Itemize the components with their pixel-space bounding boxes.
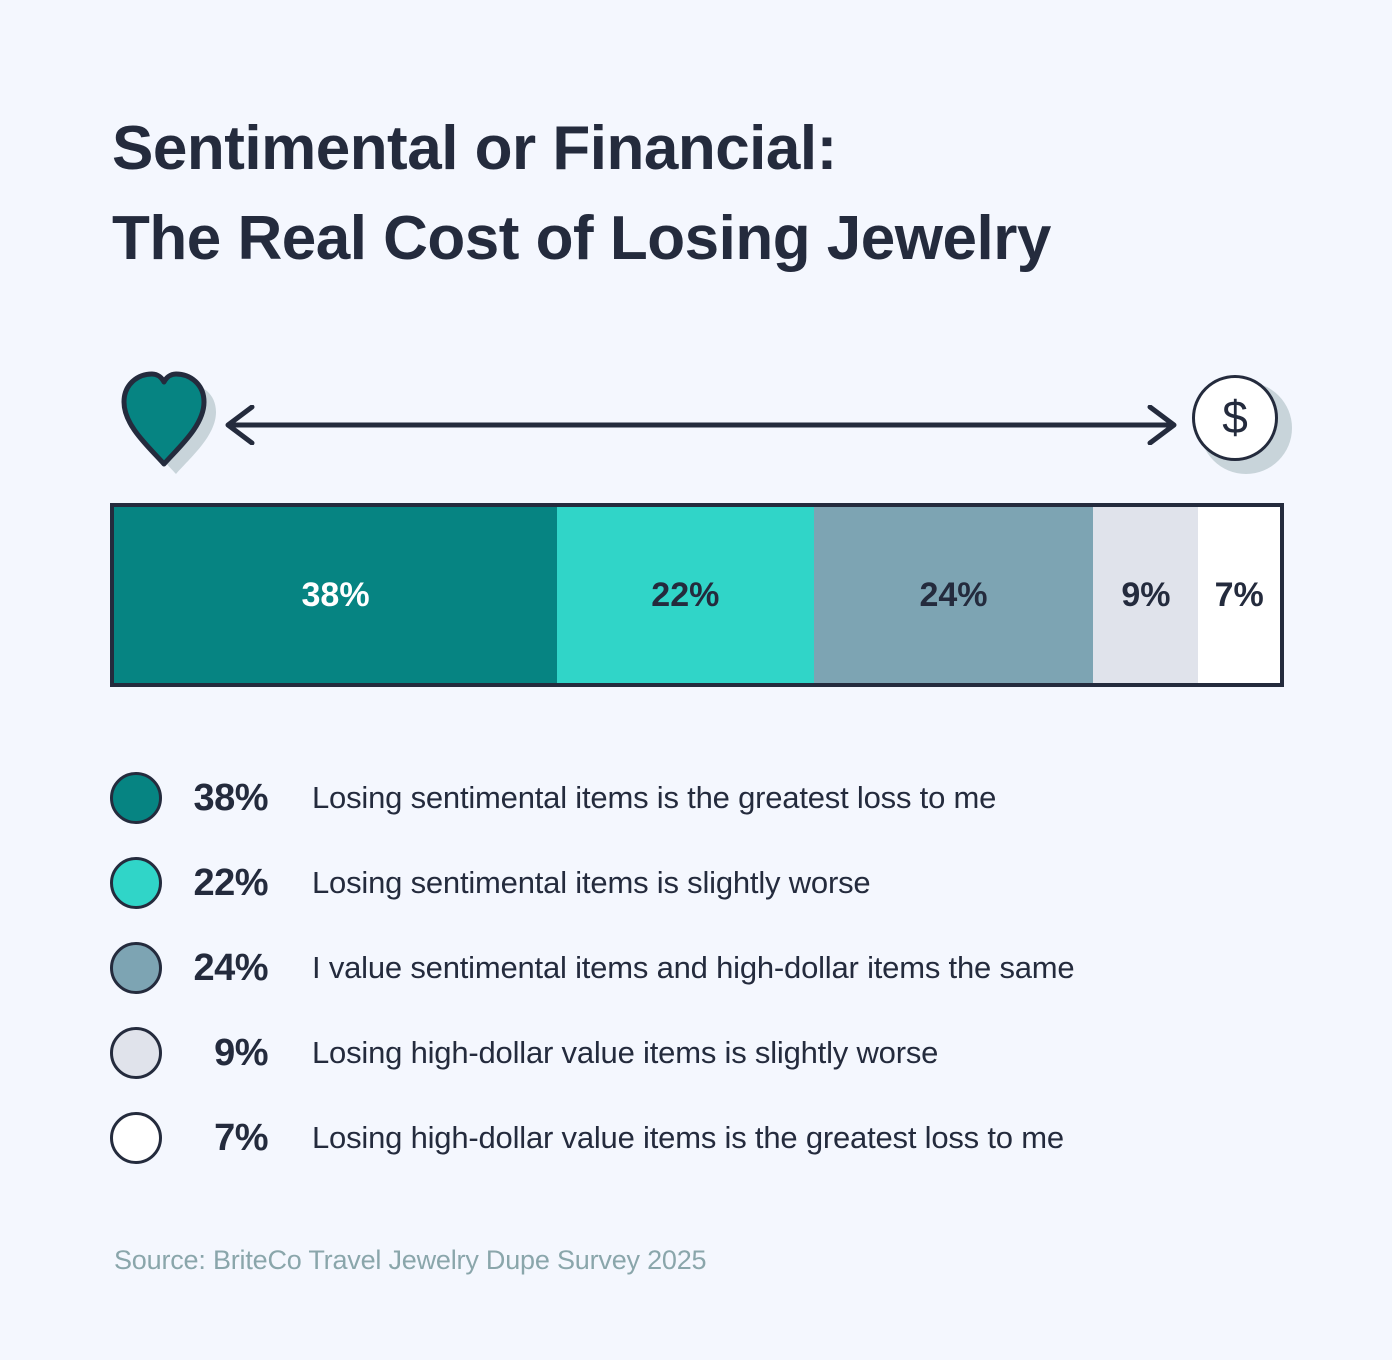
legend-swatch-icon bbox=[110, 942, 162, 994]
bar-segment-1-label: 22% bbox=[651, 576, 719, 615]
stacked-bar-chart: 38% 22% 24% 9% 7% bbox=[110, 503, 1284, 687]
legend-swatch-icon bbox=[110, 772, 162, 824]
title-line-2: The Real Cost of Losing Jewelry bbox=[112, 194, 1292, 284]
legend-swatch-icon bbox=[110, 1027, 162, 1079]
dollar-coin-icon: $ bbox=[1186, 370, 1298, 480]
bar-segment-2: 24% bbox=[814, 507, 1094, 683]
legend-item: 7% Losing high-dollar value items is the… bbox=[110, 1108, 1310, 1168]
legend-label: Losing high-dollar value items is the gr… bbox=[280, 1120, 1064, 1156]
bar-segment-4-label: 7% bbox=[1215, 576, 1264, 615]
bar-segment-0-label: 38% bbox=[302, 576, 370, 615]
legend-percent: 22% bbox=[162, 862, 280, 905]
legend-label: I value sentimental items and high-dolla… bbox=[280, 950, 1074, 986]
legend-percent: 38% bbox=[162, 777, 280, 820]
legend-swatch-icon bbox=[110, 1112, 162, 1164]
legend-item: 9% Losing high-dollar value items is sli… bbox=[110, 1023, 1310, 1083]
dollar-sign-glyph: $ bbox=[1222, 394, 1248, 440]
legend-label: Losing sentimental items is the greatest… bbox=[280, 780, 996, 816]
chart-legend: 38% Losing sentimental items is the grea… bbox=[110, 768, 1310, 1193]
bar-segment-0: 38% bbox=[114, 507, 557, 683]
coin-circle: $ bbox=[1192, 375, 1278, 461]
bar-segment-1: 22% bbox=[557, 507, 814, 683]
legend-swatch-icon bbox=[110, 857, 162, 909]
title-line-1: Sentimental or Financial: bbox=[112, 104, 1292, 194]
legend-item: 22% Losing sentimental items is slightly… bbox=[110, 853, 1310, 913]
bar-segment-4: 7% bbox=[1198, 507, 1280, 683]
heart-icon bbox=[108, 368, 220, 478]
legend-label: Losing sentimental items is slightly wor… bbox=[280, 865, 870, 901]
legend-percent: 9% bbox=[162, 1032, 280, 1075]
legend-label: Losing high-dollar value items is slight… bbox=[280, 1035, 938, 1071]
bar-segment-2-label: 24% bbox=[919, 576, 987, 615]
legend-percent: 24% bbox=[162, 947, 280, 990]
source-note: Source: BriteCo Travel Jewelry Dupe Surv… bbox=[114, 1245, 706, 1276]
double-headed-arrow-icon bbox=[222, 405, 1180, 445]
legend-item: 38% Losing sentimental items is the grea… bbox=[110, 768, 1310, 828]
legend-percent: 7% bbox=[162, 1117, 280, 1160]
page-title: Sentimental or Financial: The Real Cost … bbox=[112, 104, 1292, 284]
legend-item: 24% I value sentimental items and high-d… bbox=[110, 938, 1310, 998]
bar-segment-3-label: 9% bbox=[1121, 576, 1170, 615]
sentimental-financial-scale: $ bbox=[0, 360, 1392, 490]
bar-segment-3: 9% bbox=[1093, 507, 1198, 683]
